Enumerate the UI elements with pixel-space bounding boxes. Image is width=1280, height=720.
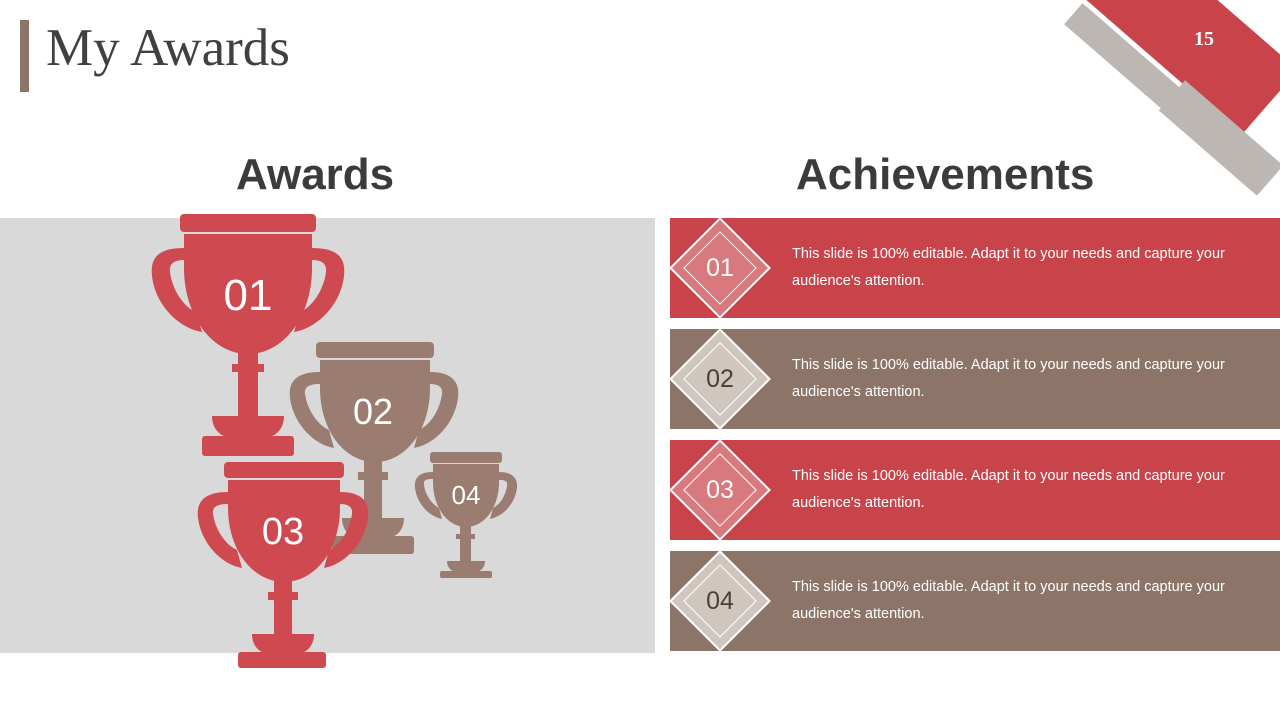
achievements-list: 01 This slide is 100% editable. Adapt it… — [670, 218, 1280, 662]
trophy-03-icon: 03 — [196, 462, 372, 668]
achievement-text-01: This slide is 100% editable. Adapt it to… — [770, 241, 1280, 295]
title-accent-bar — [20, 20, 29, 92]
achievement-text-04: This slide is 100% editable. Adapt it to… — [770, 574, 1280, 628]
trophy-02-number: 02 — [353, 391, 393, 432]
page-title: My Awards — [46, 18, 290, 78]
ribbon-grey-band-2 — [1159, 80, 1280, 195]
trophy-03-number: 03 — [262, 511, 304, 553]
achievement-text-03: This slide is 100% editable. Adapt it to… — [770, 463, 1280, 517]
ribbon-grey-band-1 — [1064, 3, 1226, 149]
achievements-heading: Achievements — [796, 150, 1094, 200]
ribbon-red-band — [1068, 0, 1280, 135]
trophy-03[interactable]: 03 — [196, 462, 372, 668]
achievement-row-03[interactable]: 03 This slide is 100% editable. Adapt it… — [670, 440, 1280, 540]
achievement-row-02[interactable]: 02 This slide is 100% editable. Adapt it… — [670, 329, 1280, 429]
achievement-badge-03: 03 — [670, 440, 770, 540]
achievement-number-04: 04 — [670, 551, 770, 651]
achievement-badge-02: 02 — [670, 329, 770, 429]
achievement-badge-01: 01 — [670, 218, 770, 318]
achievement-row-04[interactable]: 04 This slide is 100% editable. Adapt it… — [670, 551, 1280, 651]
achievement-badge-04: 04 — [670, 551, 770, 651]
achievement-number-02: 02 — [670, 329, 770, 429]
achievement-row-01[interactable]: 01 This slide is 100% editable. Adapt it… — [670, 218, 1280, 318]
achievement-number-03: 03 — [670, 440, 770, 540]
achievement-number-01: 01 — [670, 218, 770, 318]
trophy-01-number: 01 — [224, 271, 273, 320]
page-number: 15 — [1194, 28, 1214, 51]
awards-panel: 01 02 — [0, 218, 655, 653]
achievement-text-02: This slide is 100% editable. Adapt it to… — [770, 352, 1280, 406]
awards-heading: Awards — [236, 150, 394, 200]
trophy-04[interactable]: 04 — [414, 452, 518, 578]
trophy-04-number: 04 — [452, 480, 481, 510]
trophy-04-icon: 04 — [414, 452, 518, 578]
